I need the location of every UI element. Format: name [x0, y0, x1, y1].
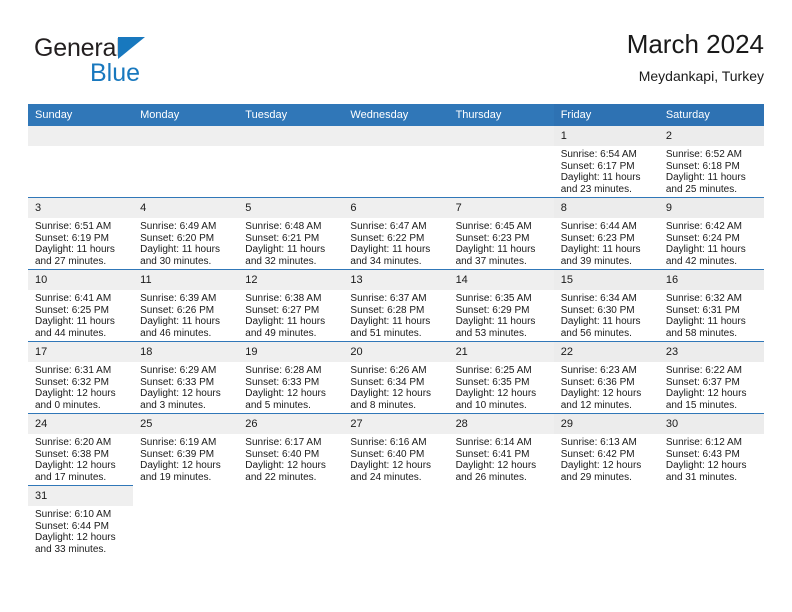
day-cell-inner	[28, 126, 133, 197]
day-number: 17	[28, 342, 133, 362]
day-number: 12	[238, 270, 343, 290]
day-sunrise-text: Sunrise: 6:41 AM	[35, 293, 127, 305]
day-cell-inner: 16Sunrise: 6:32 AMSunset: 6:31 PMDayligh…	[659, 270, 764, 341]
day-sunset-text: Sunset: 6:44 PM	[35, 521, 127, 533]
day-details: Sunrise: 6:19 AMSunset: 6:39 PMDaylight:…	[133, 434, 238, 484]
day-daylight2-text: and 10 minutes.	[456, 400, 548, 412]
day-cell-inner: 20Sunrise: 6:26 AMSunset: 6:34 PMDayligh…	[343, 342, 448, 413]
day-cell-inner	[133, 486, 238, 557]
day-sunrise-text: Sunrise: 6:25 AM	[456, 365, 548, 377]
day-sunrise-text: Sunrise: 6:28 AM	[245, 365, 337, 377]
calendar-day-cell[interactable]: 16Sunrise: 6:32 AMSunset: 6:31 PMDayligh…	[659, 270, 764, 342]
day-daylight1-text: Daylight: 11 hours	[350, 316, 442, 328]
day-daylight2-text: and 29 minutes.	[561, 472, 653, 484]
day-daylight1-text: Daylight: 12 hours	[35, 388, 127, 400]
calendar-day-cell[interactable]: 24Sunrise: 6:20 AMSunset: 6:38 PMDayligh…	[28, 414, 133, 486]
day-sunrise-text: Sunrise: 6:45 AM	[456, 221, 548, 233]
day-cell-inner	[133, 126, 238, 197]
day-daylight2-text: and 42 minutes.	[666, 256, 758, 268]
calendar-empty-cell	[28, 126, 133, 198]
calendar-day-cell[interactable]: 12Sunrise: 6:38 AMSunset: 6:27 PMDayligh…	[238, 270, 343, 342]
day-number: 1	[554, 126, 659, 146]
day-cell-inner	[449, 486, 554, 557]
day-sunset-text: Sunset: 6:33 PM	[245, 377, 337, 389]
day-daylight2-text: and 17 minutes.	[35, 472, 127, 484]
day-daylight2-text: and 26 minutes.	[456, 472, 548, 484]
day-sunrise-text: Sunrise: 6:49 AM	[140, 221, 232, 233]
logo-triangle-icon	[118, 37, 145, 59]
day-details: Sunrise: 6:25 AMSunset: 6:35 PMDaylight:…	[449, 362, 554, 412]
day-daylight1-text: Daylight: 11 hours	[140, 316, 232, 328]
day-sunset-text: Sunset: 6:26 PM	[140, 305, 232, 317]
day-cell-inner: 30Sunrise: 6:12 AMSunset: 6:43 PMDayligh…	[659, 414, 764, 485]
day-sunrise-text: Sunrise: 6:52 AM	[666, 149, 758, 161]
calendar-empty-cell	[133, 486, 238, 558]
calendar-empty-cell	[449, 126, 554, 198]
day-details: Sunrise: 6:13 AMSunset: 6:42 PMDaylight:…	[554, 434, 659, 484]
day-daylight1-text: Daylight: 11 hours	[35, 244, 127, 256]
day-daylight1-text: Daylight: 11 hours	[561, 316, 653, 328]
calendar-day-cell[interactable]: 6Sunrise: 6:47 AMSunset: 6:22 PMDaylight…	[343, 198, 448, 270]
day-cell-inner: 28Sunrise: 6:14 AMSunset: 6:41 PMDayligh…	[449, 414, 554, 485]
day-details: Sunrise: 6:10 AMSunset: 6:44 PMDaylight:…	[28, 506, 133, 556]
day-number: 3	[28, 198, 133, 218]
calendar-day-cell[interactable]: 15Sunrise: 6:34 AMSunset: 6:30 PMDayligh…	[554, 270, 659, 342]
day-daylight1-text: Daylight: 11 hours	[456, 244, 548, 256]
day-details: Sunrise: 6:22 AMSunset: 6:37 PMDaylight:…	[659, 362, 764, 412]
day-sunrise-text: Sunrise: 6:19 AM	[140, 437, 232, 449]
calendar-day-cell[interactable]: 22Sunrise: 6:23 AMSunset: 6:36 PMDayligh…	[554, 342, 659, 414]
day-daylight2-text: and 58 minutes.	[666, 328, 758, 340]
calendar-week-row: 1Sunrise: 6:54 AMSunset: 6:17 PMDaylight…	[28, 126, 764, 198]
day-sunset-text: Sunset: 6:20 PM	[140, 233, 232, 245]
day-cell-inner: 14Sunrise: 6:35 AMSunset: 6:29 PMDayligh…	[449, 270, 554, 341]
day-sunrise-text: Sunrise: 6:10 AM	[35, 509, 127, 521]
day-daylight1-text: Daylight: 11 hours	[245, 244, 337, 256]
day-sunset-text: Sunset: 6:32 PM	[35, 377, 127, 389]
day-sunset-text: Sunset: 6:40 PM	[350, 449, 442, 461]
day-details: Sunrise: 6:39 AMSunset: 6:26 PMDaylight:…	[133, 290, 238, 340]
calendar-empty-cell	[659, 486, 764, 558]
day-daylight2-text: and 22 minutes.	[245, 472, 337, 484]
column-header-sunday: Sunday	[28, 104, 133, 126]
day-daylight1-text: Daylight: 11 hours	[245, 316, 337, 328]
calendar-day-cell[interactable]: 26Sunrise: 6:17 AMSunset: 6:40 PMDayligh…	[238, 414, 343, 486]
day-cell-inner	[554, 486, 659, 557]
day-number: 18	[133, 342, 238, 362]
day-daylight2-text: and 0 minutes.	[35, 400, 127, 412]
day-sunrise-text: Sunrise: 6:22 AM	[666, 365, 758, 377]
day-sunset-text: Sunset: 6:21 PM	[245, 233, 337, 245]
day-sunset-text: Sunset: 6:22 PM	[350, 233, 442, 245]
column-header-monday: Monday	[133, 104, 238, 126]
day-cell-inner: 12Sunrise: 6:38 AMSunset: 6:27 PMDayligh…	[238, 270, 343, 341]
day-daylight2-text: and 8 minutes.	[350, 400, 442, 412]
day-cell-inner: 6Sunrise: 6:47 AMSunset: 6:22 PMDaylight…	[343, 198, 448, 269]
page-title: March 2024	[627, 28, 764, 60]
day-sunrise-text: Sunrise: 6:54 AM	[561, 149, 653, 161]
day-cell-inner	[449, 126, 554, 197]
day-cell-inner: 9Sunrise: 6:42 AMSunset: 6:24 PMDaylight…	[659, 198, 764, 269]
day-sunset-text: Sunset: 6:39 PM	[140, 449, 232, 461]
day-details: Sunrise: 6:26 AMSunset: 6:34 PMDaylight:…	[343, 362, 448, 412]
day-daylight2-text: and 32 minutes.	[245, 256, 337, 268]
day-cell-inner: 26Sunrise: 6:17 AMSunset: 6:40 PMDayligh…	[238, 414, 343, 485]
day-cell-inner: 22Sunrise: 6:23 AMSunset: 6:36 PMDayligh…	[554, 342, 659, 413]
day-number: 24	[28, 414, 133, 434]
page-subtitle: Meydankapi, Turkey	[627, 66, 764, 86]
day-sunset-text: Sunset: 6:28 PM	[350, 305, 442, 317]
day-details: Sunrise: 6:44 AMSunset: 6:23 PMDaylight:…	[554, 218, 659, 268]
calendar-day-cell[interactable]: 11Sunrise: 6:39 AMSunset: 6:26 PMDayligh…	[133, 270, 238, 342]
calendar-day-cell[interactable]: 3Sunrise: 6:51 AMSunset: 6:19 PMDaylight…	[28, 198, 133, 270]
day-number: 5	[238, 198, 343, 218]
day-sunrise-text: Sunrise: 6:13 AM	[561, 437, 653, 449]
day-daylight1-text: Daylight: 12 hours	[245, 460, 337, 472]
day-details: Sunrise: 6:20 AMSunset: 6:38 PMDaylight:…	[28, 434, 133, 484]
logo-text-blue: Blue	[90, 59, 140, 87]
day-cell-inner: 13Sunrise: 6:37 AMSunset: 6:28 PMDayligh…	[343, 270, 448, 341]
day-details: Sunrise: 6:42 AMSunset: 6:24 PMDaylight:…	[659, 218, 764, 268]
day-sunrise-text: Sunrise: 6:39 AM	[140, 293, 232, 305]
day-number: 28	[449, 414, 554, 434]
day-daylight2-text: and 37 minutes.	[456, 256, 548, 268]
day-daylight1-text: Daylight: 11 hours	[350, 244, 442, 256]
calendar-day-cell[interactable]: 28Sunrise: 6:14 AMSunset: 6:41 PMDayligh…	[449, 414, 554, 486]
day-sunrise-text: Sunrise: 6:42 AM	[666, 221, 758, 233]
day-number: 15	[554, 270, 659, 290]
calendar-day-cell[interactable]: 8Sunrise: 6:44 AMSunset: 6:23 PMDaylight…	[554, 198, 659, 270]
day-sunset-text: Sunset: 6:43 PM	[666, 449, 758, 461]
column-header-saturday: Saturday	[659, 104, 764, 126]
day-daylight2-text: and 27 minutes.	[35, 256, 127, 268]
day-daylight1-text: Daylight: 12 hours	[350, 460, 442, 472]
calendar-day-cell[interactable]: 14Sunrise: 6:35 AMSunset: 6:29 PMDayligh…	[449, 270, 554, 342]
day-details: Sunrise: 6:14 AMSunset: 6:41 PMDaylight:…	[449, 434, 554, 484]
day-daylight2-text: and 49 minutes.	[245, 328, 337, 340]
calendar-day-cell[interactable]: 25Sunrise: 6:19 AMSunset: 6:39 PMDayligh…	[133, 414, 238, 486]
day-number: 11	[133, 270, 238, 290]
day-sunset-text: Sunset: 6:17 PM	[561, 161, 653, 173]
day-cell-inner: 10Sunrise: 6:41 AMSunset: 6:25 PMDayligh…	[28, 270, 133, 341]
day-number: 25	[133, 414, 238, 434]
day-daylight1-text: Daylight: 12 hours	[456, 388, 548, 400]
day-sunrise-text: Sunrise: 6:29 AM	[140, 365, 232, 377]
day-cell-inner	[238, 126, 343, 197]
day-number: 10	[28, 270, 133, 290]
day-cell-inner	[238, 486, 343, 557]
calendar-week-row: 3Sunrise: 6:51 AMSunset: 6:19 PMDaylight…	[28, 198, 764, 270]
day-sunrise-text: Sunrise: 6:32 AM	[666, 293, 758, 305]
calendar-day-cell[interactable]: 7Sunrise: 6:45 AMSunset: 6:23 PMDaylight…	[449, 198, 554, 270]
day-details: Sunrise: 6:23 AMSunset: 6:36 PMDaylight:…	[554, 362, 659, 412]
calendar-day-cell[interactable]: 31Sunrise: 6:10 AMSunset: 6:44 PMDayligh…	[28, 486, 133, 558]
day-daylight1-text: Daylight: 12 hours	[35, 532, 127, 544]
day-number: 13	[343, 270, 448, 290]
day-sunset-text: Sunset: 6:30 PM	[561, 305, 653, 317]
day-daylight2-text: and 15 minutes.	[666, 400, 758, 412]
day-number	[238, 126, 343, 146]
day-sunset-text: Sunset: 6:18 PM	[666, 161, 758, 173]
day-daylight1-text: Daylight: 12 hours	[35, 460, 127, 472]
day-cell-inner: 18Sunrise: 6:29 AMSunset: 6:33 PMDayligh…	[133, 342, 238, 413]
calendar-empty-cell	[133, 126, 238, 198]
day-details: Sunrise: 6:54 AMSunset: 6:17 PMDaylight:…	[554, 146, 659, 196]
day-daylight1-text: Daylight: 12 hours	[666, 460, 758, 472]
day-details: Sunrise: 6:17 AMSunset: 6:40 PMDaylight:…	[238, 434, 343, 484]
day-sunrise-text: Sunrise: 6:51 AM	[35, 221, 127, 233]
day-number: 22	[554, 342, 659, 362]
day-sunset-text: Sunset: 6:24 PM	[666, 233, 758, 245]
day-daylight2-text: and 25 minutes.	[666, 184, 758, 196]
day-daylight1-text: Daylight: 12 hours	[456, 460, 548, 472]
day-sunset-text: Sunset: 6:23 PM	[561, 233, 653, 245]
day-sunset-text: Sunset: 6:23 PM	[456, 233, 548, 245]
calendar-empty-cell	[238, 126, 343, 198]
calendar-week-row: 31Sunrise: 6:10 AMSunset: 6:44 PMDayligh…	[28, 486, 764, 558]
day-daylight2-text: and 39 minutes.	[561, 256, 653, 268]
day-daylight2-text: and 12 minutes.	[561, 400, 653, 412]
calendar-body: 1Sunrise: 6:54 AMSunset: 6:17 PMDaylight…	[28, 126, 764, 557]
day-daylight2-text: and 23 minutes.	[561, 184, 653, 196]
day-number: 21	[449, 342, 554, 362]
day-daylight1-text: Daylight: 12 hours	[140, 388, 232, 400]
day-details: Sunrise: 6:51 AMSunset: 6:19 PMDaylight:…	[28, 218, 133, 268]
calendar-empty-cell	[554, 486, 659, 558]
day-details: Sunrise: 6:38 AMSunset: 6:27 PMDaylight:…	[238, 290, 343, 340]
day-cell-inner: 21Sunrise: 6:25 AMSunset: 6:35 PMDayligh…	[449, 342, 554, 413]
day-sunset-text: Sunset: 6:40 PM	[245, 449, 337, 461]
day-daylight2-text: and 46 minutes.	[140, 328, 232, 340]
day-sunrise-text: Sunrise: 6:35 AM	[456, 293, 548, 305]
day-daylight1-text: Daylight: 11 hours	[561, 172, 653, 184]
day-details: Sunrise: 6:47 AMSunset: 6:22 PMDaylight:…	[343, 218, 448, 268]
day-number	[343, 126, 448, 146]
day-cell-inner	[343, 126, 448, 197]
calendar-day-cell[interactable]: 18Sunrise: 6:29 AMSunset: 6:33 PMDayligh…	[133, 342, 238, 414]
column-header-tuesday: Tuesday	[238, 104, 343, 126]
calendar-day-cell[interactable]: 13Sunrise: 6:37 AMSunset: 6:28 PMDayligh…	[343, 270, 448, 342]
day-cell-inner: 19Sunrise: 6:28 AMSunset: 6:33 PMDayligh…	[238, 342, 343, 413]
day-daylight2-text: and 31 minutes.	[666, 472, 758, 484]
day-sunset-text: Sunset: 6:27 PM	[245, 305, 337, 317]
day-sunrise-text: Sunrise: 6:47 AM	[350, 221, 442, 233]
day-number: 6	[343, 198, 448, 218]
day-cell-inner: 24Sunrise: 6:20 AMSunset: 6:38 PMDayligh…	[28, 414, 133, 485]
day-daylight2-text: and 3 minutes.	[140, 400, 232, 412]
day-number	[449, 126, 554, 146]
day-sunset-text: Sunset: 6:38 PM	[35, 449, 127, 461]
column-header-friday: Friday	[554, 104, 659, 126]
day-details: Sunrise: 6:28 AMSunset: 6:33 PMDaylight:…	[238, 362, 343, 412]
calendar-day-cell[interactable]: 21Sunrise: 6:25 AMSunset: 6:35 PMDayligh…	[449, 342, 554, 414]
day-number: 27	[343, 414, 448, 434]
day-daylight2-text: and 24 minutes.	[350, 472, 442, 484]
day-daylight2-text: and 30 minutes.	[140, 256, 232, 268]
day-sunrise-text: Sunrise: 6:26 AM	[350, 365, 442, 377]
day-daylight1-text: Daylight: 11 hours	[666, 316, 758, 328]
day-cell-inner: 29Sunrise: 6:13 AMSunset: 6:42 PMDayligh…	[554, 414, 659, 485]
calendar-day-cell[interactable]: 2Sunrise: 6:52 AMSunset: 6:18 PMDaylight…	[659, 126, 764, 198]
day-cell-inner: 31Sunrise: 6:10 AMSunset: 6:44 PMDayligh…	[28, 486, 133, 557]
day-number	[133, 126, 238, 146]
day-cell-inner: 23Sunrise: 6:22 AMSunset: 6:37 PMDayligh…	[659, 342, 764, 413]
day-sunset-text: Sunset: 6:41 PM	[456, 449, 548, 461]
calendar-day-cell[interactable]: 19Sunrise: 6:28 AMSunset: 6:33 PMDayligh…	[238, 342, 343, 414]
column-header-thursday: Thursday	[449, 104, 554, 126]
day-details: Sunrise: 6:32 AMSunset: 6:31 PMDaylight:…	[659, 290, 764, 340]
day-daylight2-text: and 33 minutes.	[35, 544, 127, 556]
calendar-day-cell[interactable]: 20Sunrise: 6:26 AMSunset: 6:34 PMDayligh…	[343, 342, 448, 414]
day-daylight1-text: Daylight: 12 hours	[561, 388, 653, 400]
day-cell-inner	[343, 486, 448, 557]
day-daylight1-text: Daylight: 11 hours	[35, 316, 127, 328]
day-details: Sunrise: 6:48 AMSunset: 6:21 PMDaylight:…	[238, 218, 343, 268]
day-sunrise-text: Sunrise: 6:48 AM	[245, 221, 337, 233]
day-cell-inner: 11Sunrise: 6:39 AMSunset: 6:26 PMDayligh…	[133, 270, 238, 341]
day-details: Sunrise: 6:41 AMSunset: 6:25 PMDaylight:…	[28, 290, 133, 340]
day-number: 16	[659, 270, 764, 290]
day-sunrise-text: Sunrise: 6:17 AM	[245, 437, 337, 449]
general-blue-logo: General Blue	[34, 34, 254, 94]
day-number: 14	[449, 270, 554, 290]
day-details: Sunrise: 6:37 AMSunset: 6:28 PMDaylight:…	[343, 290, 448, 340]
day-daylight2-text: and 19 minutes.	[140, 472, 232, 484]
day-number: 30	[659, 414, 764, 434]
day-cell-inner	[659, 486, 764, 557]
day-daylight1-text: Daylight: 11 hours	[666, 244, 758, 256]
day-sunset-text: Sunset: 6:19 PM	[35, 233, 127, 245]
day-sunrise-text: Sunrise: 6:34 AM	[561, 293, 653, 305]
day-daylight1-text: Daylight: 12 hours	[561, 460, 653, 472]
day-cell-inner: 2Sunrise: 6:52 AMSunset: 6:18 PMDaylight…	[659, 126, 764, 197]
calendar-day-cell[interactable]: 17Sunrise: 6:31 AMSunset: 6:32 PMDayligh…	[28, 342, 133, 414]
day-sunrise-text: Sunrise: 6:16 AM	[350, 437, 442, 449]
calendar-day-cell[interactable]: 27Sunrise: 6:16 AMSunset: 6:40 PMDayligh…	[343, 414, 448, 486]
day-sunrise-text: Sunrise: 6:20 AM	[35, 437, 127, 449]
day-daylight2-text: and 53 minutes.	[456, 328, 548, 340]
day-cell-inner: 3Sunrise: 6:51 AMSunset: 6:19 PMDaylight…	[28, 198, 133, 269]
day-daylight1-text: Daylight: 12 hours	[245, 388, 337, 400]
day-details: Sunrise: 6:35 AMSunset: 6:29 PMDaylight:…	[449, 290, 554, 340]
day-daylight1-text: Daylight: 11 hours	[561, 244, 653, 256]
day-daylight2-text: and 5 minutes.	[245, 400, 337, 412]
day-daylight1-text: Daylight: 11 hours	[666, 172, 758, 184]
day-cell-inner: 7Sunrise: 6:45 AMSunset: 6:23 PMDaylight…	[449, 198, 554, 269]
day-sunset-text: Sunset: 6:33 PM	[140, 377, 232, 389]
day-sunrise-text: Sunrise: 6:31 AM	[35, 365, 127, 377]
day-cell-inner: 4Sunrise: 6:49 AMSunset: 6:20 PMDaylight…	[133, 198, 238, 269]
calendar-header-row: SundayMondayTuesdayWednesdayThursdayFrid…	[28, 104, 764, 126]
day-number: 9	[659, 198, 764, 218]
day-daylight2-text: and 34 minutes.	[350, 256, 442, 268]
day-details: Sunrise: 6:45 AMSunset: 6:23 PMDaylight:…	[449, 218, 554, 268]
calendar-empty-cell	[343, 486, 448, 558]
day-number: 29	[554, 414, 659, 434]
day-sunrise-text: Sunrise: 6:44 AM	[561, 221, 653, 233]
calendar-day-cell[interactable]: 9Sunrise: 6:42 AMSunset: 6:24 PMDaylight…	[659, 198, 764, 270]
day-cell-inner: 27Sunrise: 6:16 AMSunset: 6:40 PMDayligh…	[343, 414, 448, 485]
day-details: Sunrise: 6:12 AMSunset: 6:43 PMDaylight:…	[659, 434, 764, 484]
day-cell-inner: 15Sunrise: 6:34 AMSunset: 6:30 PMDayligh…	[554, 270, 659, 341]
day-sunset-text: Sunset: 6:25 PM	[35, 305, 127, 317]
day-details: Sunrise: 6:49 AMSunset: 6:20 PMDaylight:…	[133, 218, 238, 268]
day-number: 8	[554, 198, 659, 218]
day-sunset-text: Sunset: 6:36 PM	[561, 377, 653, 389]
day-sunrise-text: Sunrise: 6:38 AM	[245, 293, 337, 305]
day-details: Sunrise: 6:34 AMSunset: 6:30 PMDaylight:…	[554, 290, 659, 340]
calendar-day-cell[interactable]: 29Sunrise: 6:13 AMSunset: 6:42 PMDayligh…	[554, 414, 659, 486]
day-daylight2-text: and 56 minutes.	[561, 328, 653, 340]
day-sunset-text: Sunset: 6:42 PM	[561, 449, 653, 461]
day-sunset-text: Sunset: 6:29 PM	[456, 305, 548, 317]
day-details: Sunrise: 6:52 AMSunset: 6:18 PMDaylight:…	[659, 146, 764, 196]
day-number: 20	[343, 342, 448, 362]
day-details: Sunrise: 6:16 AMSunset: 6:40 PMDaylight:…	[343, 434, 448, 484]
day-daylight1-text: Daylight: 11 hours	[140, 244, 232, 256]
day-daylight1-text: Daylight: 12 hours	[140, 460, 232, 472]
day-sunset-text: Sunset: 6:31 PM	[666, 305, 758, 317]
day-number: 4	[133, 198, 238, 218]
day-number: 2	[659, 126, 764, 146]
calendar-day-cell[interactable]: 4Sunrise: 6:49 AMSunset: 6:20 PMDaylight…	[133, 198, 238, 270]
day-cell-inner: 8Sunrise: 6:44 AMSunset: 6:23 PMDaylight…	[554, 198, 659, 269]
day-sunrise-text: Sunrise: 6:14 AM	[456, 437, 548, 449]
day-cell-inner: 1Sunrise: 6:54 AMSunset: 6:17 PMDaylight…	[554, 126, 659, 197]
logo-text-general: General	[34, 34, 122, 62]
day-daylight1-text: Daylight: 12 hours	[350, 388, 442, 400]
day-number: 19	[238, 342, 343, 362]
day-daylight1-text: Daylight: 12 hours	[666, 388, 758, 400]
calendar-week-row: 10Sunrise: 6:41 AMSunset: 6:25 PMDayligh…	[28, 270, 764, 342]
day-details: Sunrise: 6:31 AMSunset: 6:32 PMDaylight:…	[28, 362, 133, 412]
day-number	[28, 126, 133, 146]
day-daylight1-text: Daylight: 11 hours	[456, 316, 548, 328]
calendar-grid: SundayMondayTuesdayWednesdayThursdayFrid…	[28, 104, 764, 557]
day-details: Sunrise: 6:29 AMSunset: 6:33 PMDaylight:…	[133, 362, 238, 412]
day-sunrise-text: Sunrise: 6:37 AM	[350, 293, 442, 305]
calendar-empty-cell	[343, 126, 448, 198]
calendar-page: General Blue March 2024 Meydankapi, Turk…	[0, 0, 792, 612]
calendar-day-cell[interactable]: 5Sunrise: 6:48 AMSunset: 6:21 PMDaylight…	[238, 198, 343, 270]
day-number: 7	[449, 198, 554, 218]
day-cell-inner: 25Sunrise: 6:19 AMSunset: 6:39 PMDayligh…	[133, 414, 238, 485]
page-header: General Blue March 2024 Meydankapi, Turk…	[28, 28, 764, 98]
calendar-week-row: 24Sunrise: 6:20 AMSunset: 6:38 PMDayligh…	[28, 414, 764, 486]
calendar-empty-cell	[449, 486, 554, 558]
title-block: March 2024 Meydankapi, Turkey	[627, 28, 764, 86]
day-daylight2-text: and 51 minutes.	[350, 328, 442, 340]
day-number: 31	[28, 486, 133, 506]
calendar-empty-cell	[238, 486, 343, 558]
column-header-wednesday: Wednesday	[343, 104, 448, 126]
day-number: 23	[659, 342, 764, 362]
day-sunrise-text: Sunrise: 6:23 AM	[561, 365, 653, 377]
calendar-day-cell[interactable]: 10Sunrise: 6:41 AMSunset: 6:25 PMDayligh…	[28, 270, 133, 342]
day-cell-inner: 17Sunrise: 6:31 AMSunset: 6:32 PMDayligh…	[28, 342, 133, 413]
calendar-day-cell[interactable]: 23Sunrise: 6:22 AMSunset: 6:37 PMDayligh…	[659, 342, 764, 414]
day-cell-inner: 5Sunrise: 6:48 AMSunset: 6:21 PMDaylight…	[238, 198, 343, 269]
day-number: 26	[238, 414, 343, 434]
day-sunrise-text: Sunrise: 6:12 AM	[666, 437, 758, 449]
calendar-day-cell[interactable]: 30Sunrise: 6:12 AMSunset: 6:43 PMDayligh…	[659, 414, 764, 486]
day-sunset-text: Sunset: 6:34 PM	[350, 377, 442, 389]
day-sunset-text: Sunset: 6:37 PM	[666, 377, 758, 389]
calendar-week-row: 17Sunrise: 6:31 AMSunset: 6:32 PMDayligh…	[28, 342, 764, 414]
day-daylight2-text: and 44 minutes.	[35, 328, 127, 340]
calendar-day-cell[interactable]: 1Sunrise: 6:54 AMSunset: 6:17 PMDaylight…	[554, 126, 659, 198]
day-sunset-text: Sunset: 6:35 PM	[456, 377, 548, 389]
